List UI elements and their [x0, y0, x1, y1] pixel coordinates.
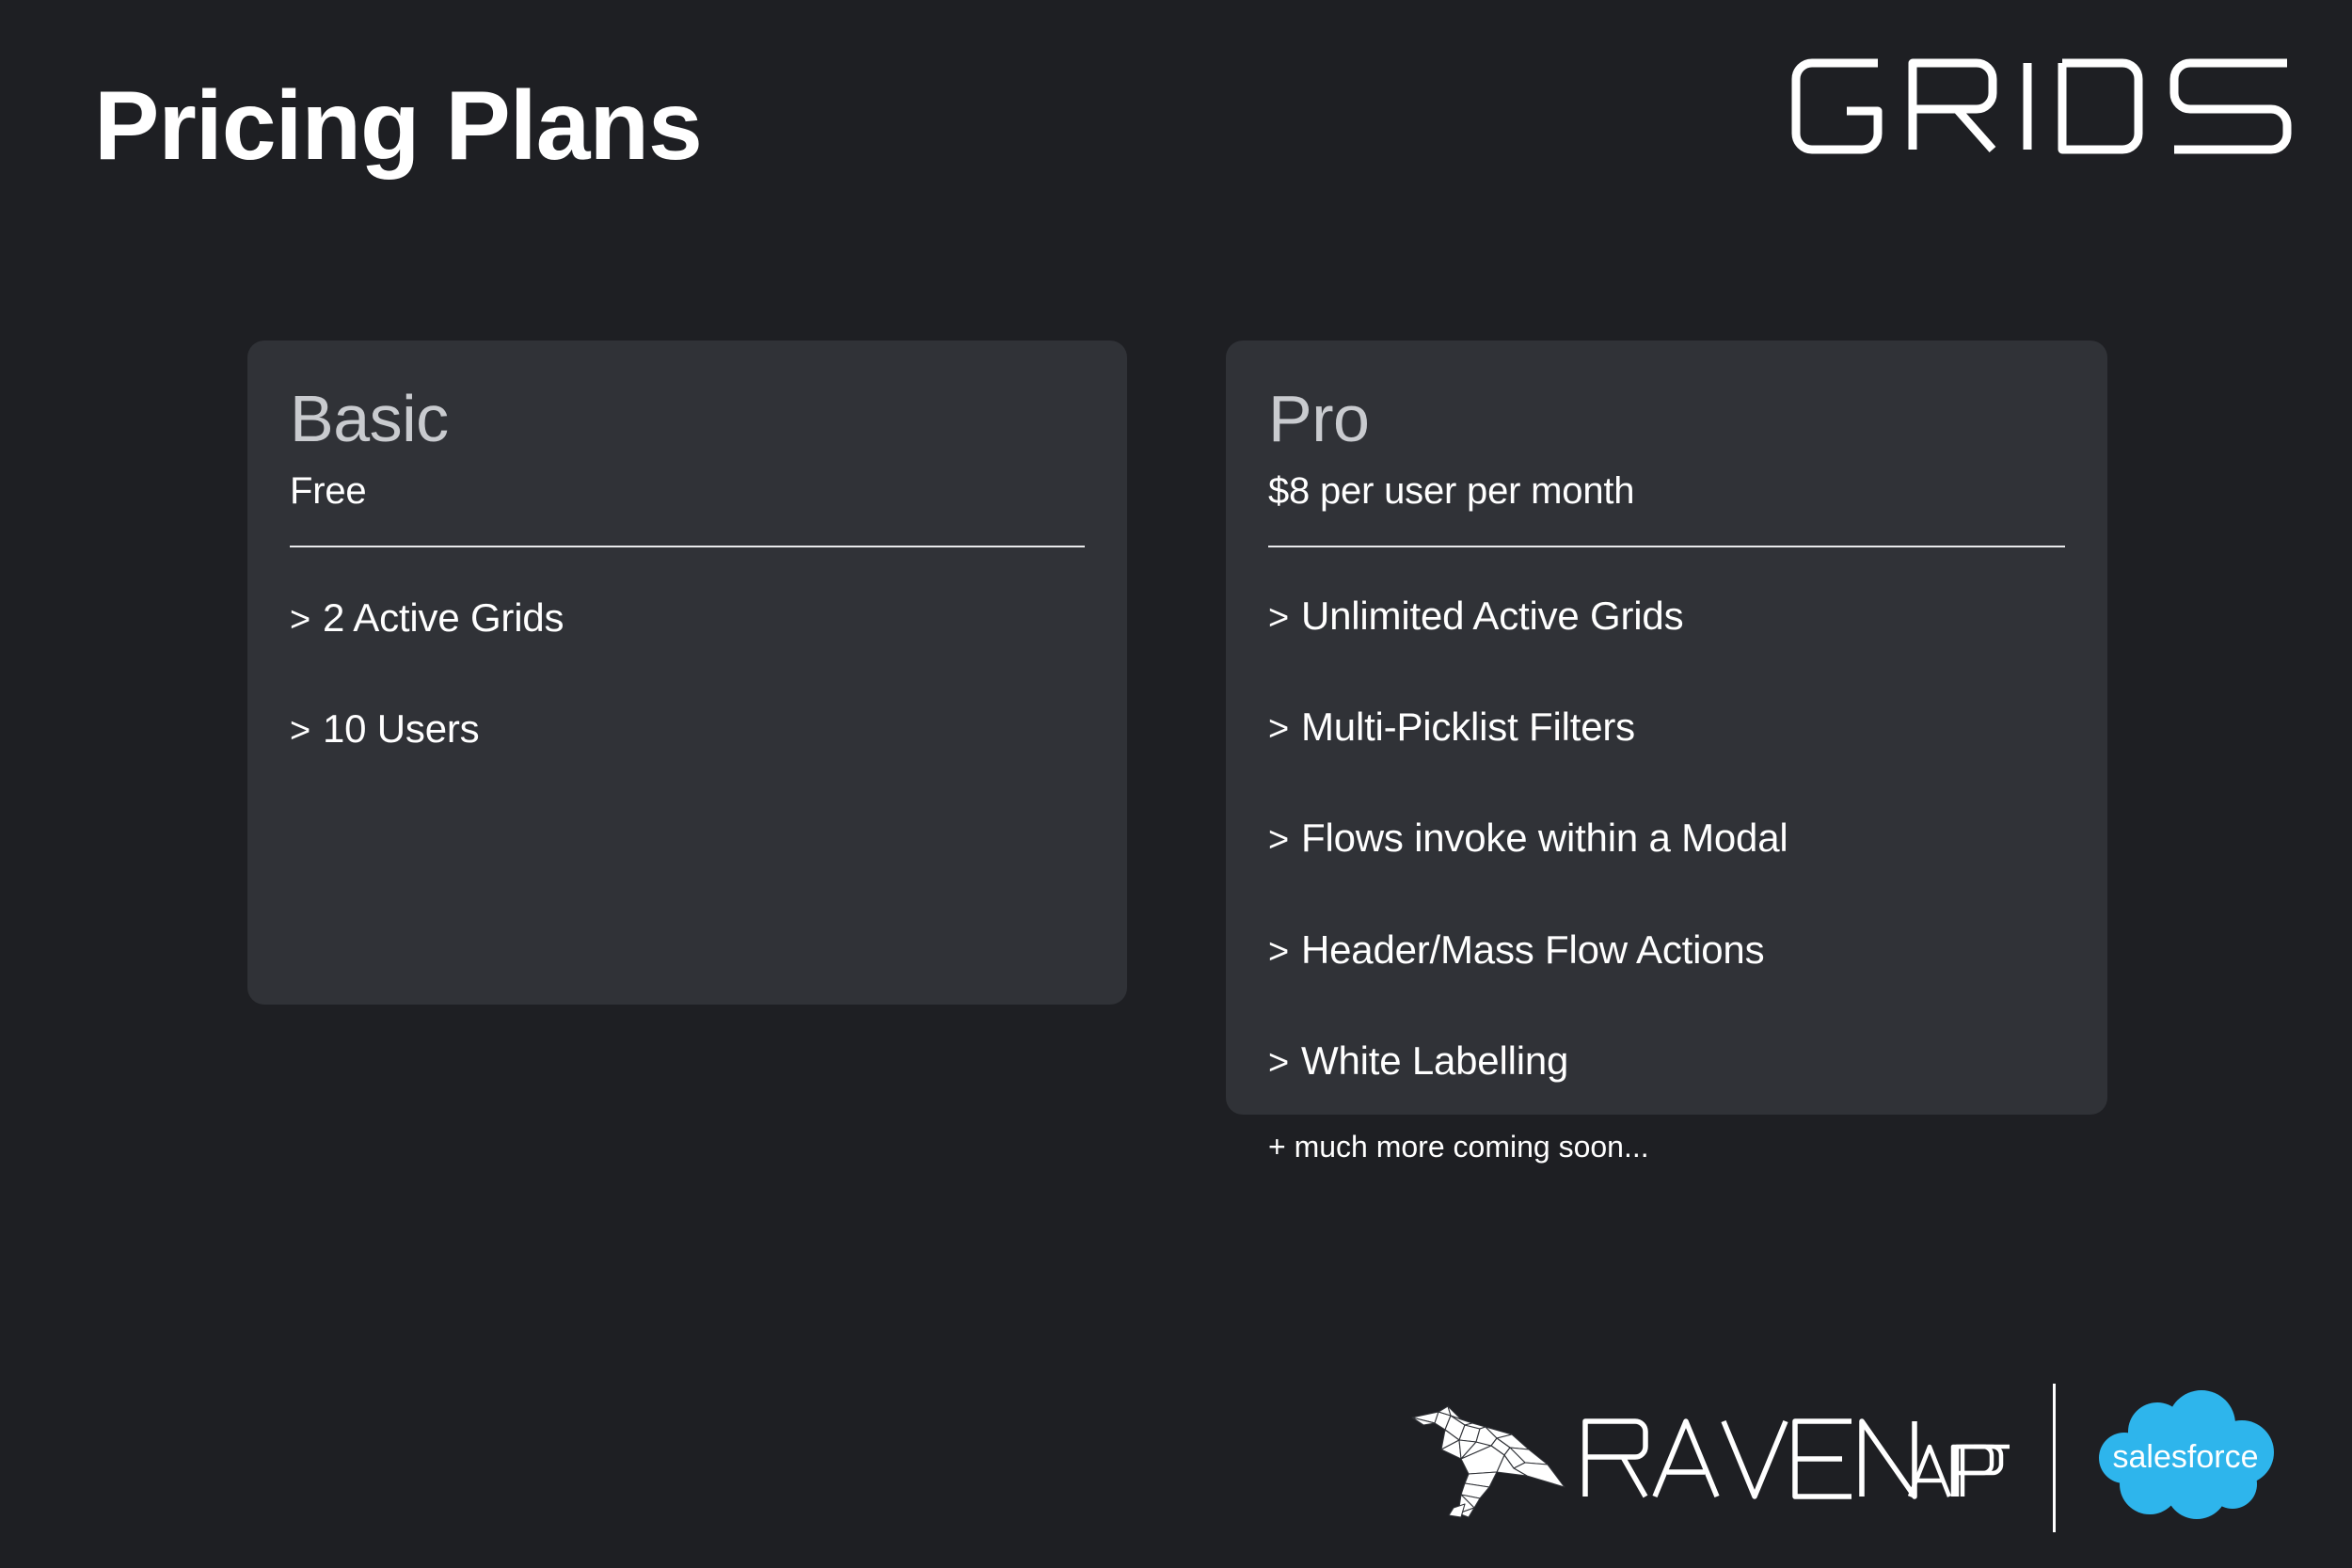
pricing-plans-slide: Pricing Plans Basic Free > 2 Ac — [0, 0, 2352, 1568]
plan-divider-basic — [290, 546, 1085, 547]
chevron-right-icon: > — [1268, 711, 1289, 747]
coming-soon-note: + much more coming soon... — [1268, 1130, 1649, 1164]
grids-logo — [1788, 55, 2296, 158]
plan-price-pro: $8 per user per month — [1268, 472, 2065, 510]
feature-item: > White Labelling — [1268, 1039, 2065, 1083]
feature-list-pro: > Unlimited Active Grids > Multi-Picklis… — [1268, 594, 2065, 1083]
footer-divider — [2053, 1384, 2056, 1532]
plan-divider-pro — [1268, 546, 2065, 547]
chevron-right-icon: > — [290, 602, 310, 638]
salesforce-wordmark: salesforce — [2113, 1439, 2259, 1475]
chevron-right-icon: > — [1268, 1045, 1289, 1081]
page-title: Pricing Plans — [94, 77, 702, 175]
chevron-right-icon: > — [1268, 822, 1289, 858]
feature-label: Unlimited Active Grids — [1301, 594, 1683, 638]
feature-item: > 2 Active Grids — [290, 596, 1085, 640]
feature-list-basic: > 2 Active Grids > 10 Users — [290, 596, 1085, 751]
feature-label: Flows invoke within a Modal — [1301, 816, 1788, 860]
plan-name-pro: Pro — [1268, 386, 2065, 451]
chevron-right-icon: > — [1268, 600, 1289, 636]
feature-label: Header/Mass Flow Actions — [1301, 928, 1764, 972]
plan-name-basic: Basic — [290, 386, 1085, 451]
feature-item: > Header/Mass Flow Actions — [1268, 928, 2065, 972]
feature-label: 2 Active Grids — [323, 596, 564, 640]
ravenapps-wordmark — [1581, 1416, 2013, 1500]
footer-branding: salesforce — [1406, 1369, 2253, 1547]
feature-item: > Multi-Picklist Filters — [1268, 705, 2065, 749]
feature-item: > Flows invoke within a Modal — [1268, 816, 2065, 860]
feature-label: 10 Users — [323, 707, 479, 751]
feature-label: Multi-Picklist Filters — [1301, 705, 1635, 749]
salesforce-logo: salesforce — [2091, 1390, 2280, 1527]
raven-bird-icon — [1406, 1397, 1571, 1519]
feature-item: > Unlimited Active Grids — [1268, 594, 2065, 638]
feature-label: White Labelling — [1301, 1039, 1568, 1083]
plan-card-basic[interactable]: Basic Free > 2 Active Grids > 10 Users — [247, 341, 1127, 1005]
chevron-right-icon: > — [1268, 934, 1289, 970]
plan-card-pro[interactable]: Pro $8 per user per month > Unlimited Ac… — [1226, 341, 2107, 1115]
chevron-right-icon: > — [290, 713, 310, 749]
plan-price-basic: Free — [290, 472, 1085, 510]
feature-item: > 10 Users — [290, 707, 1085, 751]
